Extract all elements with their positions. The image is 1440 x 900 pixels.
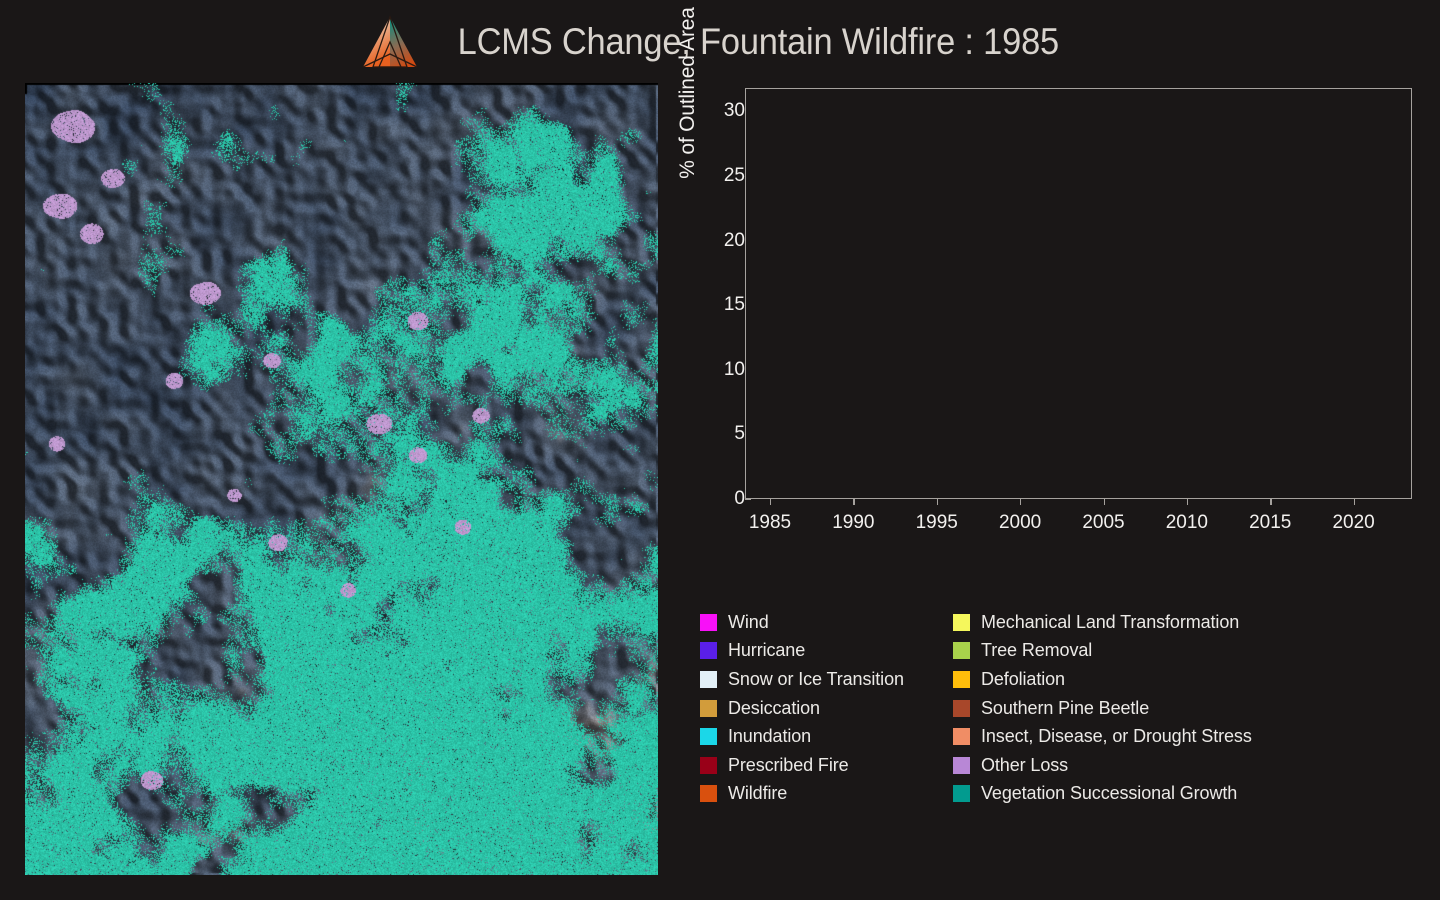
legend-item[interactable]: Insect, Disease, or Drought Stress <box>953 722 1413 751</box>
x-tick-label: 1985 <box>735 512 805 534</box>
legend-item[interactable]: Defoliation <box>953 665 1413 694</box>
header-bar: LCMS Change, Fountain Wildfire : 1985 <box>0 0 1440 83</box>
x-tick-mark <box>1187 499 1188 505</box>
y-tick-label: 30 <box>699 100 745 122</box>
legend-item-label: Hurricane <box>728 640 805 661</box>
legend-item-label: Inundation <box>728 726 811 747</box>
app-root: LCMS Change, Fountain Wildfire : 1985 % … <box>0 0 1440 900</box>
y-tick-label: 0 <box>699 488 745 510</box>
legend-color-swatch-icon <box>700 728 717 745</box>
legend-color-swatch-icon <box>700 671 717 688</box>
legend-item[interactable]: Southern Pine Beetle <box>953 694 1413 723</box>
legend-item[interactable]: Prescribed Fire <box>700 751 953 780</box>
legend-column-right: Mechanical Land TransformationTree Remov… <box>953 608 1413 818</box>
legend-color-swatch-icon <box>953 671 970 688</box>
legend-color-swatch-icon <box>700 614 717 631</box>
legend-color-swatch-icon <box>953 700 970 717</box>
x-tick-label: 2010 <box>1152 512 1222 534</box>
legend-item[interactable]: Inundation <box>700 722 953 751</box>
x-tick-mark <box>1020 499 1021 505</box>
legend-item[interactable]: Tree Removal <box>953 637 1413 666</box>
legend-item-label: Mechanical Land Transformation <box>981 612 1239 633</box>
x-tick-mark <box>937 499 938 505</box>
legend-column-left: WindHurricaneSnow or Ice TransitionDesic… <box>700 608 953 818</box>
x-tick-label: 1995 <box>902 512 972 534</box>
x-tick-mark <box>1104 499 1105 505</box>
legend-color-swatch-icon <box>953 642 970 659</box>
y-tick-label: 15 <box>699 294 745 316</box>
legend-color-swatch-icon <box>953 614 970 631</box>
x-tick-mark <box>853 499 854 505</box>
timeseries-chart: % of Outlined Area 051015202530 19851990… <box>660 83 1430 553</box>
x-tick-label: 2015 <box>1235 512 1305 534</box>
legend-item[interactable]: Vegetation Successional Growth <box>953 780 1413 809</box>
legend-item-label: Other Loss <box>981 755 1068 776</box>
legend-color-swatch-icon <box>953 757 970 774</box>
y-tick-label: 20 <box>699 230 745 252</box>
legend-item[interactable]: Desiccation <box>700 694 953 723</box>
x-tick-label: 2000 <box>985 512 1055 534</box>
legend-item-label: Southern Pine Beetle <box>981 698 1149 719</box>
legend-color-swatch-icon <box>953 728 970 745</box>
legend-item-label: Insect, Disease, or Drought Stress <box>981 726 1252 747</box>
legend-color-swatch-icon <box>953 785 970 802</box>
legend-color-swatch-icon <box>700 757 717 774</box>
legend-item[interactable]: Mechanical Land Transformation <box>953 608 1413 637</box>
legend-item[interactable]: Wind <box>700 608 953 637</box>
legend-item-label: Wind <box>728 612 769 633</box>
legend-item-label: Defoliation <box>981 669 1065 690</box>
x-tick-label: 2020 <box>1319 512 1389 534</box>
change-class-legend: WindHurricaneSnow or Ice TransitionDesic… <box>700 608 1420 818</box>
plot-area[interactable] <box>745 88 1412 499</box>
legend-item-label: Desiccation <box>728 698 820 719</box>
legend-item-label: Tree Removal <box>981 640 1092 661</box>
legend-item[interactable]: Snow or Ice Transition <box>700 665 953 694</box>
legend-item[interactable]: Hurricane <box>700 637 953 666</box>
y-tick-label: 10 <box>699 359 745 381</box>
x-tick-label: 2005 <box>1069 512 1139 534</box>
x-axis-ticks: 19851990199520002005201020152020 <box>745 499 1412 549</box>
x-tick-label: 1990 <box>818 512 888 534</box>
legend-item[interactable]: Other Loss <box>953 751 1413 780</box>
legend-item-label: Prescribed Fire <box>728 755 849 776</box>
legend-item-label: Vegetation Successional Growth <box>981 783 1237 804</box>
legend-color-swatch-icon <box>700 642 717 659</box>
x-tick-mark <box>1270 499 1271 505</box>
y-axis-ticks: 051015202530 <box>693 88 745 499</box>
legend-color-swatch-icon <box>700 700 717 717</box>
y-tick-label: 25 <box>699 165 745 187</box>
legend-item-label: Wildfire <box>728 783 787 804</box>
legend-item[interactable]: Wildfire <box>700 780 953 809</box>
y-tick-label: 5 <box>699 423 745 445</box>
legend-item-label: Snow or Ice Transition <box>728 669 904 690</box>
legend-color-swatch-icon <box>700 785 717 802</box>
lcms-pyramid-logo-icon <box>359 14 421 70</box>
x-tick-mark <box>1354 499 1355 505</box>
page-title: LCMS Change, Fountain Wildfire : 1985 <box>457 21 1058 63</box>
map-canvas[interactable] <box>25 83 658 875</box>
satellite-change-map[interactable] <box>25 83 658 875</box>
x-tick-mark <box>770 499 771 505</box>
